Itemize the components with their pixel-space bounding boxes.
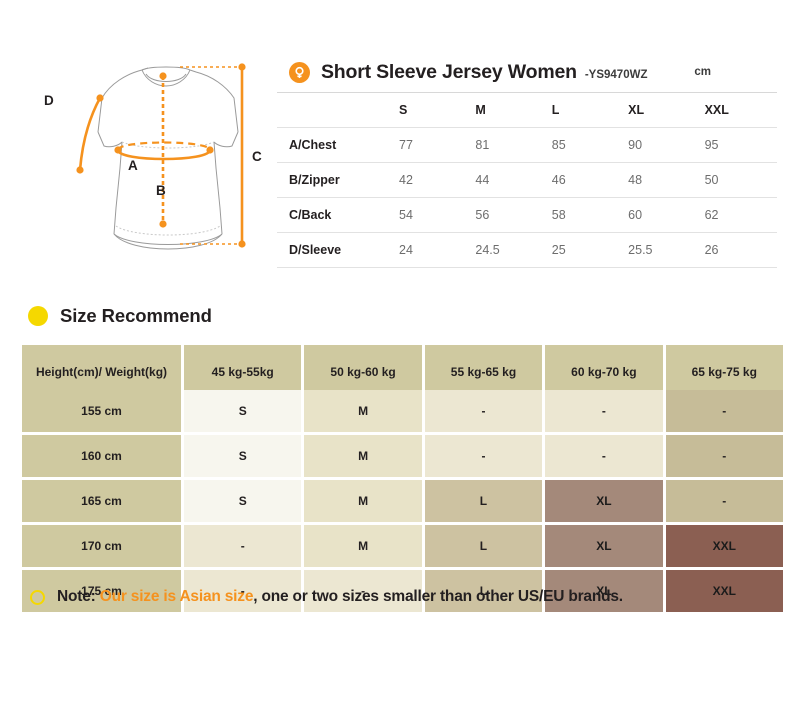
product-title: Short Sleeve Jersey Women (321, 61, 577, 84)
diagram-label-a: A (128, 158, 138, 173)
grid-size-cell: XXL (666, 570, 783, 612)
measure-value: 46 (548, 163, 624, 198)
measure-value: 62 (701, 198, 777, 233)
note-highlight: Our size is Asian size (100, 588, 254, 605)
grid-height-label: 170 cm (22, 525, 181, 567)
measure-value: 25 (548, 233, 624, 268)
measure-value: 90 (624, 128, 700, 163)
grid-size-cell: XL (545, 525, 662, 567)
note-row: Note: Our size is Asian size, one or two… (30, 588, 623, 606)
grid-size-cell: M (304, 390, 421, 432)
measure-value: 95 (701, 128, 777, 163)
size-header-s: S (395, 93, 471, 128)
unit-label: cm (694, 66, 711, 78)
grid-size-cell: L (425, 525, 542, 567)
grid-size-cell: - (425, 435, 542, 477)
spec-header: Short Sleeve Jersey Women -YS9470WZ cm (277, 52, 777, 92)
measure-value: 60 (624, 198, 700, 233)
grid-size-cell: - (666, 435, 783, 477)
grid-height-label: 160 cm (22, 435, 181, 477)
grid-size-cell: - (666, 480, 783, 522)
grid-size-cell: M (304, 525, 421, 567)
grid-height-label: 155 cm (22, 390, 181, 432)
measurement-table-head: S M L XL XXL (277, 93, 777, 128)
measure-value: 24 (395, 233, 471, 268)
grid-size-cell: XL (545, 480, 662, 522)
product-model-code: -YS9470WZ (585, 69, 648, 81)
measure-value: 56 (471, 198, 547, 233)
table-row: B/Zipper 42 44 46 48 50 (277, 163, 777, 198)
top-section: A B C D Short Sleeve Jersey Women -YS947… (0, 0, 790, 285)
measure-value: 54 (395, 198, 471, 233)
grid-size-cell: - (545, 435, 662, 477)
diagram-label-c: C (252, 149, 262, 164)
grid-size-cell: - (184, 525, 301, 567)
grid-size-cell: - (545, 390, 662, 432)
measure-c-guides (180, 67, 242, 244)
measure-value: 50 (701, 163, 777, 198)
measure-value: 85 (548, 128, 624, 163)
measure-label: B/Zipper (277, 163, 395, 198)
corner-cell (277, 93, 395, 128)
measure-value: 42 (395, 163, 471, 198)
measure-value: 44 (471, 163, 547, 198)
measure-value: 26 (701, 233, 777, 268)
grid-size-cell: S (184, 480, 301, 522)
measure-value: 24.5 (471, 233, 547, 268)
grid-size-cell: XXL (666, 525, 783, 567)
grid-height-label: 165 cm (22, 480, 181, 522)
measure-value: 77 (395, 128, 471, 163)
jersey-measurement-diagram: A B C D (30, 48, 280, 280)
measure-value: 58 (548, 198, 624, 233)
measure-label: A/Chest (277, 128, 395, 163)
table-row: D/Sleeve 24 24.5 25 25.5 26 (277, 233, 777, 268)
size-header-m: M (471, 93, 547, 128)
specification-panel: Short Sleeve Jersey Women -YS9470WZ cm S… (277, 52, 777, 268)
size-recommend-grid: Height(cm)/ Weight(kg)45 kg-55kg50 kg-60… (22, 345, 768, 612)
note-suffix: , one or two sizes smaller than other US… (253, 588, 623, 605)
size-chart-page: A B C D Short Sleeve Jersey Women -YS947… (0, 0, 790, 707)
measure-label: C/Back (277, 198, 395, 233)
size-header-xl: XL (624, 93, 700, 128)
jersey-svg: A B C D (30, 48, 280, 280)
size-recommend-header: Size Recommend (28, 305, 212, 327)
grid-size-cell: M (304, 435, 421, 477)
note-text: Note: Our size is Asian size, one or two… (57, 588, 623, 606)
note-prefix: Note: (57, 588, 100, 605)
measure-value: 25.5 (624, 233, 700, 268)
grid-size-cell: S (184, 390, 301, 432)
grid-size-cell: L (425, 480, 542, 522)
size-header-l: L (548, 93, 624, 128)
measure-label: D/Sleeve (277, 233, 395, 268)
diagram-label-b: B (156, 183, 166, 198)
yellow-dot-icon (28, 306, 48, 326)
measurement-table-body: A/Chest 77 81 85 90 95 B/Zipper 42 44 46… (277, 128, 777, 268)
grid-size-cell: S (184, 435, 301, 477)
table-header-row: S M L XL XXL (277, 93, 777, 128)
yellow-ring-icon (30, 590, 45, 605)
table-row: A/Chest 77 81 85 90 95 (277, 128, 777, 163)
table-row: C/Back 54 56 58 60 62 (277, 198, 777, 233)
diagram-label-d: D (44, 93, 54, 108)
size-header-xxl: XXL (701, 93, 777, 128)
measurement-table: S M L XL XXL A/Chest 77 81 85 90 95 (277, 92, 777, 268)
grid-size-cell: - (666, 390, 783, 432)
measure-value: 48 (624, 163, 700, 198)
grid-size-cell: - (425, 390, 542, 432)
size-recommend-title: Size Recommend (60, 305, 212, 327)
measure-value: 81 (471, 128, 547, 163)
venus-female-icon (289, 62, 310, 83)
grid-size-cell: M (304, 480, 421, 522)
